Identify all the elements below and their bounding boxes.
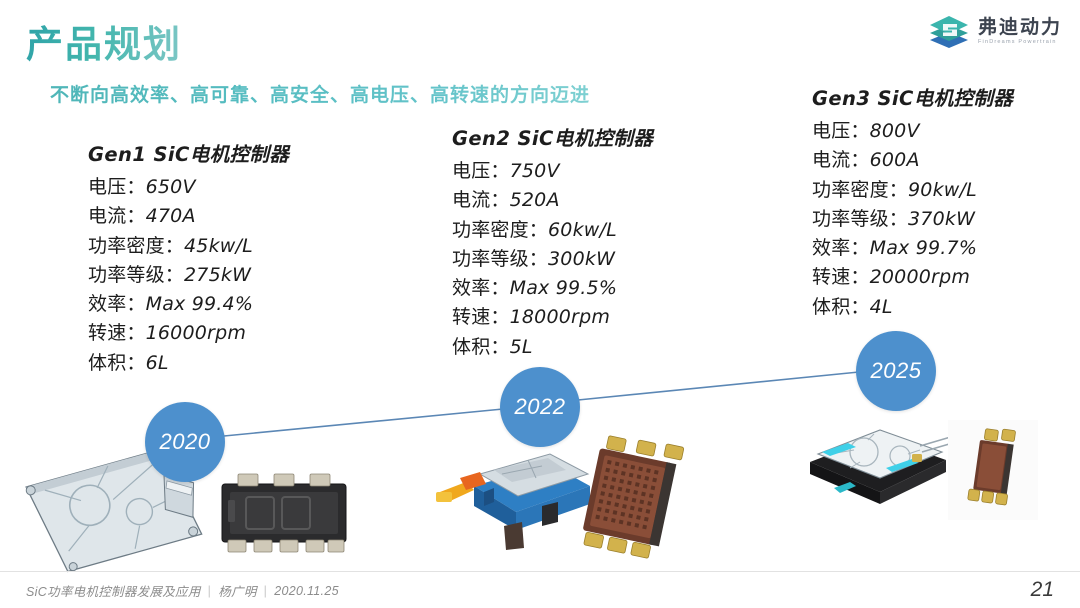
spec-value: 45kw/L xyxy=(184,235,253,257)
spec-value: 16000rpm xyxy=(146,322,246,344)
spec-value: Max 99.4% xyxy=(146,293,253,315)
footer-author: 杨广明 xyxy=(218,581,256,600)
spec-key: 体积： xyxy=(88,352,146,374)
spec-value: 20000rpm xyxy=(870,266,970,288)
spec-row: 体积：4L xyxy=(812,293,1013,322)
spec-block-gen3: Gen3 SiC电机控制器 电压：800V 电流：600A 功率密度：90kw/… xyxy=(812,82,1013,322)
spec-value: 800V xyxy=(870,120,920,142)
spec-row: 电流：520A xyxy=(452,186,653,215)
spec-row: 功率等级：300kW xyxy=(452,245,653,274)
spec-value: 600A xyxy=(870,149,920,171)
spec-key: 转速： xyxy=(812,266,870,288)
slide-canvas: 产品规划 不断向高效率、高可靠、高安全、高电压、高转速的方向迈进 弗迪动力 Fi… xyxy=(0,0,1080,608)
gen2-power-module-photo xyxy=(574,430,692,570)
footer-date: 2020.11.25 xyxy=(274,584,339,598)
footer-divider xyxy=(0,571,1080,572)
spec-heading: Gen2 SiC电机控制器 xyxy=(452,122,653,151)
page-title: 产品规划 xyxy=(26,14,182,68)
spec-key: 效率： xyxy=(812,237,870,259)
spec-row: 体积：5L xyxy=(452,333,653,362)
page-number: 21 xyxy=(1031,578,1054,602)
spec-value: 750V xyxy=(510,160,560,182)
spec-block-gen1: Gen1 SiC电机控制器 电压：650V 电流：470A 功率密度：45kw/… xyxy=(88,138,289,378)
spec-row: 效率：Max 99.4% xyxy=(88,290,289,319)
spec-block-gen2: Gen2 SiC电机控制器 电压：750V 电流：520A 功率密度：60kw/… xyxy=(452,122,653,362)
footer-topic: SiC功率电机控制器发展及应用 xyxy=(26,581,201,600)
product-photo-group-gen2 xyxy=(432,430,692,570)
spec-key: 体积： xyxy=(452,336,510,358)
brand-logo: 弗迪动力 FinDreams Powertrain xyxy=(928,12,1062,52)
spec-row: 功率密度：90kw/L xyxy=(812,176,1013,205)
spec-value: 370kW xyxy=(908,208,975,230)
spec-row: 功率等级：275kW xyxy=(88,261,289,290)
spec-value: 60kw/L xyxy=(548,219,617,241)
spec-value: 18000rpm xyxy=(510,306,610,328)
gen1-power-module-photo xyxy=(214,470,354,558)
spec-value: Max 99.5% xyxy=(510,277,617,299)
footer-separator-2: | xyxy=(264,584,268,598)
spec-key: 功率等级： xyxy=(88,264,184,286)
spec-heading: Gen1 SiC电机控制器 xyxy=(88,138,289,167)
timeline-year-2025[interactable]: 2025 xyxy=(856,331,936,411)
spec-key: 功率密度： xyxy=(812,179,908,201)
spec-key: 电流： xyxy=(452,189,510,211)
spec-key: 转速： xyxy=(88,322,146,344)
spec-value: 5L xyxy=(510,336,533,358)
spec-row: 电压：800V xyxy=(812,117,1013,146)
spec-key: 效率： xyxy=(452,277,510,299)
spec-value: 6L xyxy=(146,352,169,374)
gen3-inverter-photo xyxy=(800,410,960,520)
spec-row: 电流：470A xyxy=(88,202,289,231)
spec-key: 体积： xyxy=(812,296,870,318)
spec-key: 电压： xyxy=(88,176,146,198)
spec-row: 功率密度：45kw/L xyxy=(88,232,289,261)
spec-row: 电流：600A xyxy=(812,146,1013,175)
spec-value: 90kw/L xyxy=(908,179,977,201)
spec-value: 275kW xyxy=(184,264,251,286)
spec-row: 效率：Max 99.7% xyxy=(812,234,1013,263)
page-subtitle: 不断向高效率、高可靠、高安全、高电压、高转速的方向迈进 xyxy=(50,80,590,107)
spec-row: 体积：6L xyxy=(88,349,289,378)
logo-text-cn: 弗迪动力 xyxy=(978,18,1062,37)
footer: SiC功率电机控制器发展及应用 | 杨广明 | 2020.11.25 xyxy=(26,581,339,600)
spec-row: 电压：750V xyxy=(452,157,653,186)
spec-key: 效率： xyxy=(88,293,146,315)
logo-text-en: FinDreams Powertrain xyxy=(978,40,1062,46)
timeline-year-2022[interactable]: 2022 xyxy=(500,367,580,447)
spec-row: 电压：650V xyxy=(88,173,289,202)
spec-heading: Gen3 SiC电机控制器 xyxy=(812,82,1013,111)
findreams-logo-icon xyxy=(928,12,970,52)
spec-value: Max 99.7% xyxy=(870,237,977,259)
spec-row: 转速：20000rpm xyxy=(812,263,1013,292)
spec-row: 效率：Max 99.5% xyxy=(452,274,653,303)
spec-value: 650V xyxy=(146,176,196,198)
spec-value: 520A xyxy=(510,189,560,211)
spec-row: 转速：16000rpm xyxy=(88,319,289,348)
spec-row: 功率密度：60kw/L xyxy=(452,216,653,245)
spec-key: 功率等级： xyxy=(452,248,548,270)
spec-key: 转速： xyxy=(452,306,510,328)
spec-key: 功率等级： xyxy=(812,208,908,230)
spec-key: 功率密度： xyxy=(88,235,184,257)
spec-value: 470A xyxy=(146,205,196,227)
footer-separator-1: | xyxy=(208,584,212,598)
timeline-year-2020[interactable]: 2020 xyxy=(145,402,225,482)
spec-row: 转速：18000rpm xyxy=(452,303,653,332)
spec-key: 电压： xyxy=(812,120,870,142)
gen3-power-module-photo xyxy=(948,420,1038,520)
product-photo-group-gen3 xyxy=(800,410,1060,530)
spec-key: 电流： xyxy=(812,149,870,171)
spec-key: 电压： xyxy=(452,160,510,182)
spec-value: 300kW xyxy=(548,248,615,270)
spec-key: 功率密度： xyxy=(452,219,548,241)
spec-row: 功率等级：370kW xyxy=(812,205,1013,234)
spec-key: 电流： xyxy=(88,205,146,227)
spec-value: 4L xyxy=(870,296,893,318)
